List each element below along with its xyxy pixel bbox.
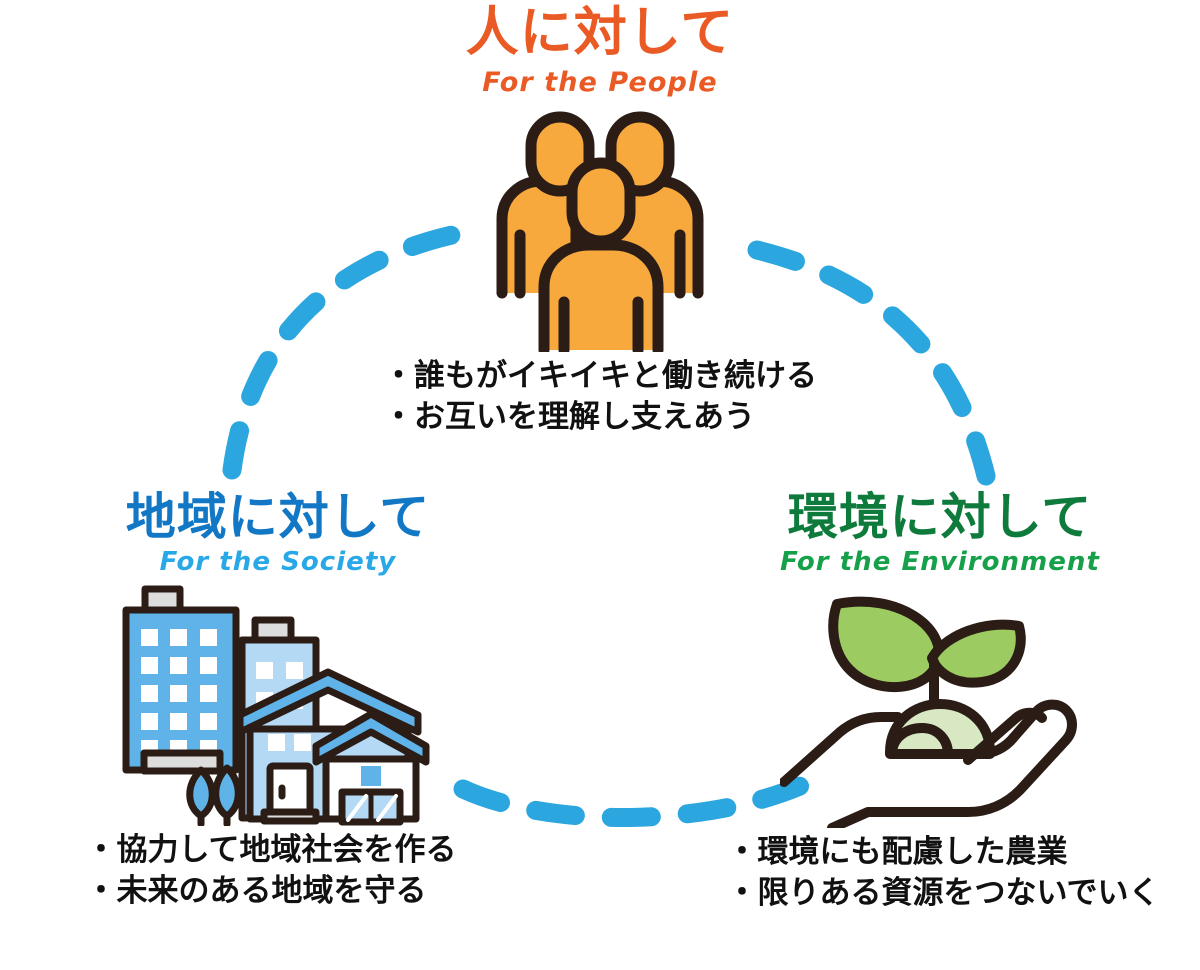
people-subheading: For the People: [300, 67, 900, 98]
people-bullets: ・誰もがイキイキと働き続ける ・お互いを理解し支えあう: [383, 356, 817, 438]
section-society: 地域に対して For the Society: [28, 492, 528, 912]
society-subheading: For the Society: [28, 547, 528, 577]
society-bullets: ・協力して地域社会を作る ・未来のある地域を守る: [85, 830, 456, 912]
environment-bullet-1: ・環境にも配慮した農業: [726, 832, 1159, 873]
people-bullet-2: ・お互いを理解し支えあう: [383, 397, 817, 438]
society-bullet-2: ・未来のある地域を守る: [85, 871, 456, 912]
three-people-icon: [484, 107, 716, 352]
people-heading: 人に対して: [300, 6, 900, 60]
diagram-canvas: 人に対して For the People: [0, 0, 1200, 970]
environment-bullet-2: ・限りある資源をつないでいく: [726, 873, 1159, 914]
environment-icon-container: [690, 583, 1190, 828]
buildings-and-house-icon: [98, 584, 458, 826]
people-icon-container: [300, 104, 900, 354]
people-bullet-1: ・誰もがイキイキと働き続ける: [383, 356, 817, 397]
environment-subheading: For the Environment: [690, 547, 1190, 577]
society-bullet-1: ・協力して地域社会を作る: [85, 830, 456, 871]
section-people: 人に対して For the People: [300, 6, 900, 438]
environment-heading: 環境に対して: [690, 492, 1190, 543]
society-heading: 地域に対して: [28, 492, 528, 543]
section-environment: 環境に対して For the Environment: [690, 492, 1190, 914]
hand-holding-sprout-icon: [780, 586, 1100, 828]
society-icon-container: [28, 581, 528, 826]
environment-bullets: ・環境にも配慮した農業 ・限りある資源をつないでいく: [726, 832, 1159, 914]
